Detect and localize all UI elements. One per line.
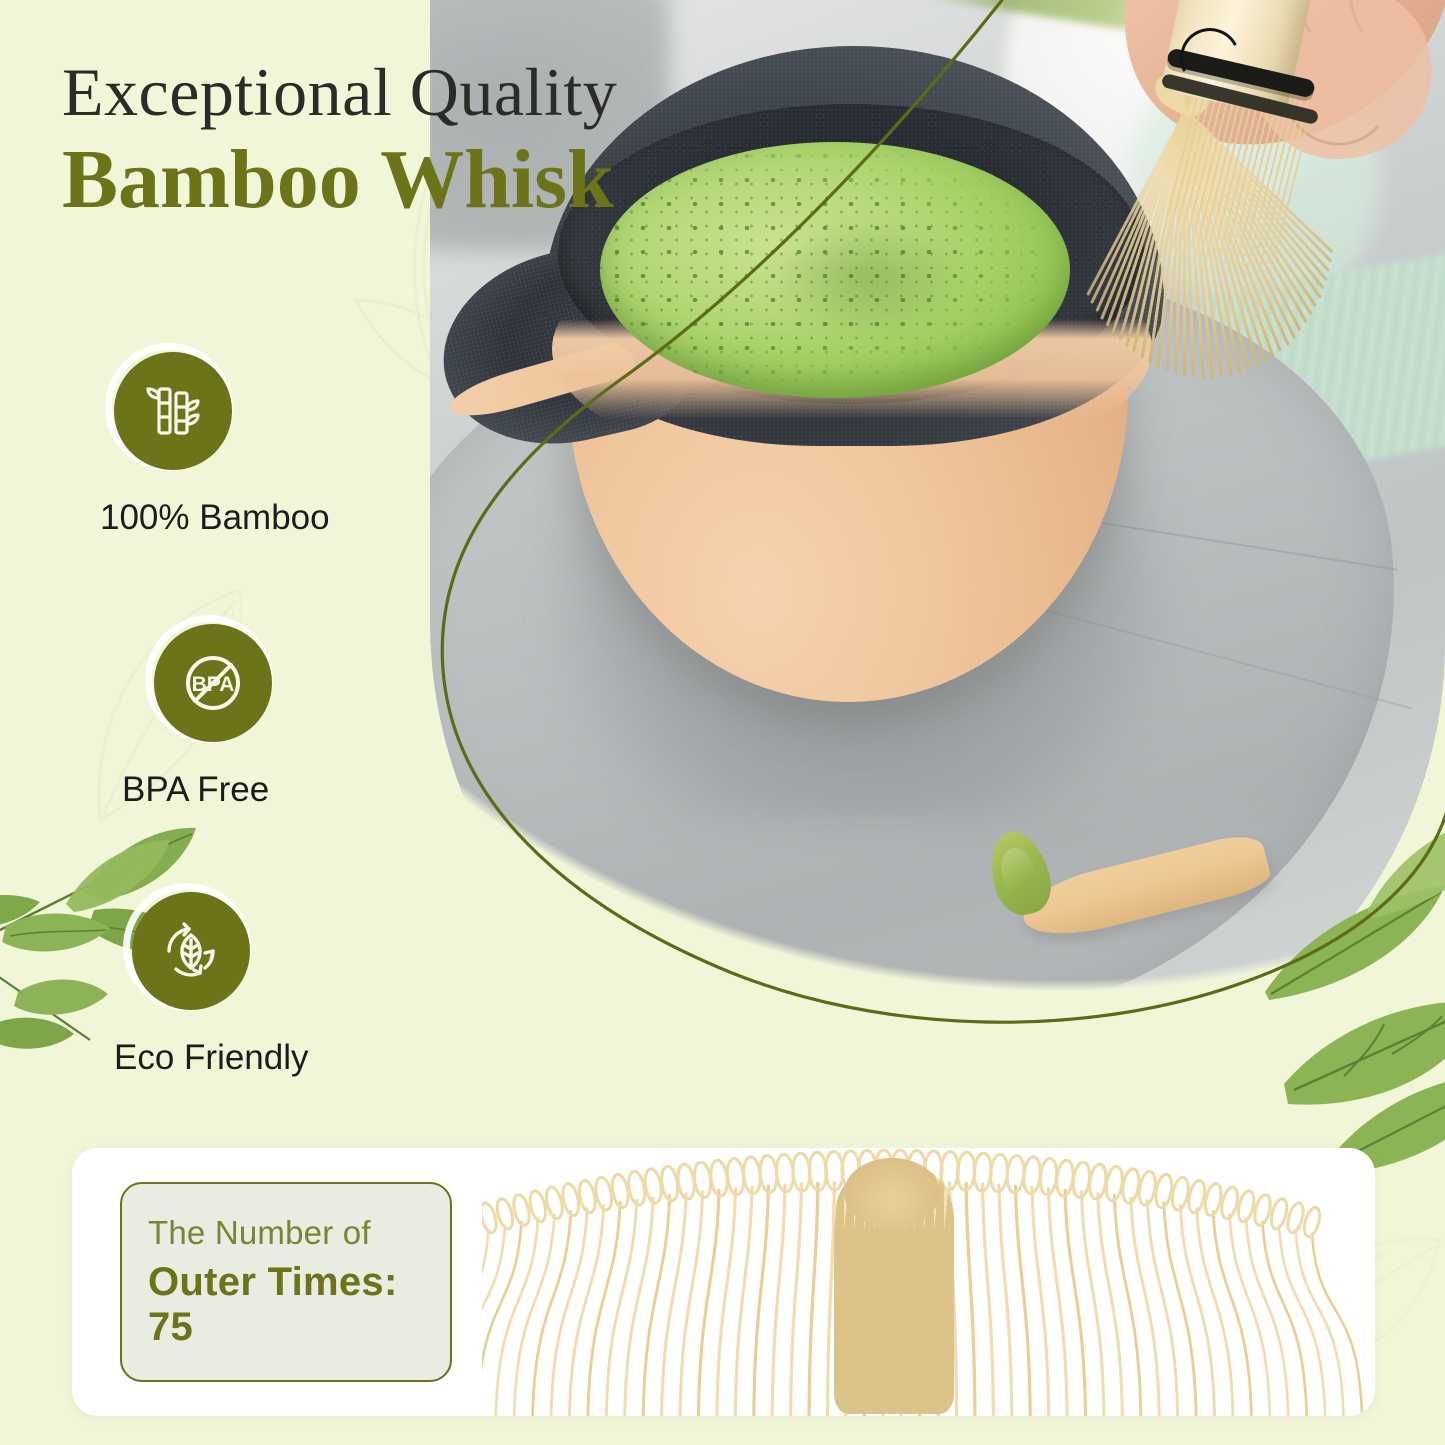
whisk-closeup-tine — [1302, 1206, 1362, 1416]
callout-line-2: Outer Times: 75 — [148, 1260, 450, 1350]
page-title: Exceptional Quality Bamboo Whisk — [62, 58, 617, 224]
callout-line-1: The Number of — [148, 1214, 450, 1252]
bamboo-stalks-icon — [114, 352, 232, 470]
feature-item-bpa-free: BPA BPA Free — [140, 624, 570, 810]
outer-times-callout: The Number of Outer Times: 75 — [120, 1182, 452, 1382]
bpa-icon-text: BPA — [192, 673, 235, 696]
spec-panel: The Number of Outer Times: 75 — [72, 1148, 1375, 1416]
product-infographic: Exceptional Quality Bamboo Whisk — [0, 0, 1445, 1445]
headline-line-2: Bamboo Whisk — [62, 136, 617, 224]
scoop-shaft — [1017, 830, 1274, 947]
feature-item-eco-friendly: Eco Friendly — [118, 892, 548, 1078]
bamboo-matcha-scoop — [990, 827, 1290, 987]
whisk-closeup-tine — [791, 1153, 811, 1416]
whisk-closeup-tine — [482, 1193, 532, 1416]
whisk-closeup-photo — [482, 1148, 1375, 1416]
eco-recycle-leaf-icon — [132, 892, 250, 1010]
feature-label: 100% Bamboo — [100, 498, 530, 538]
feature-badge — [132, 892, 256, 1016]
bamboo-whisk-in-bowl — [990, 0, 1445, 472]
whisk-closeup-tine — [973, 1153, 993, 1416]
whisk-closeup-tine — [754, 1155, 778, 1416]
feature-badge: BPA — [154, 624, 278, 748]
bpa-free-icon: BPA — [154, 624, 272, 742]
headline-line-1: Exceptional Quality — [62, 58, 617, 126]
whisk-closeup-tine — [808, 1152, 827, 1416]
whisk-closeup-tine — [1006, 1155, 1030, 1416]
feature-label: Eco Friendly — [114, 1038, 548, 1078]
whisk-closeup-center-knot — [844, 1158, 940, 1228]
feature-item-bamboo: 100% Bamboo — [100, 352, 530, 538]
feature-label: BPA Free — [122, 770, 570, 810]
feature-badge — [114, 352, 238, 476]
whisk-closeup-tine — [957, 1152, 976, 1416]
